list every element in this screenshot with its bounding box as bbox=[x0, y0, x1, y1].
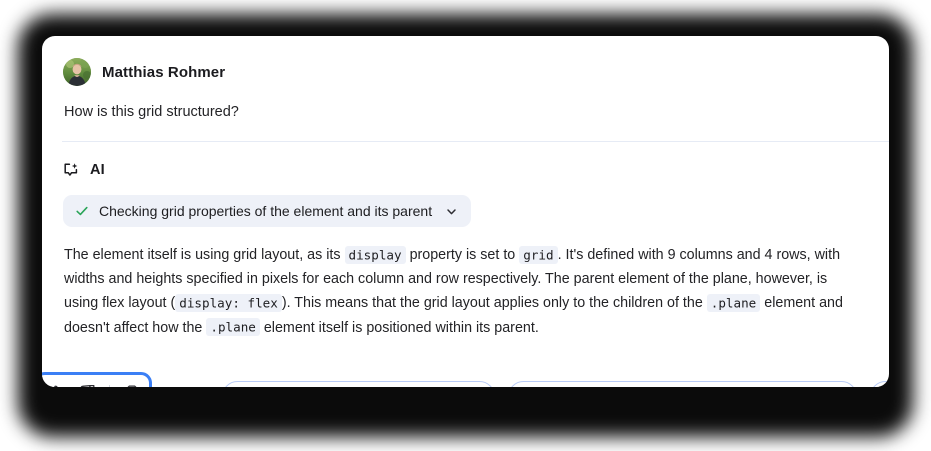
ai-header-row: AI bbox=[63, 159, 865, 181]
status-pill-checking-grid[interactable]: Checking grid properties of the element … bbox=[63, 195, 471, 227]
toolbar-divider bbox=[109, 385, 110, 387]
ai-label: AI bbox=[90, 162, 105, 178]
suggestion-chip[interactable]: How can I learn more about CSS Grid? bbox=[222, 381, 495, 388]
inline-code: .plane bbox=[206, 318, 260, 336]
ai-message-block: AI Checking grid properties of the eleme… bbox=[42, 142, 889, 340]
suggestion-chip[interactable] bbox=[870, 381, 889, 388]
report-octagon-icon bbox=[123, 384, 141, 388]
conversation-card: Matthias Rohmer How is this grid structu… bbox=[42, 36, 889, 387]
thumbs-down-button[interactable] bbox=[72, 379, 102, 387]
inline-code: grid bbox=[519, 246, 557, 264]
thumbs-up-icon bbox=[45, 383, 64, 387]
suggestion-chip[interactable]: What are the differences between grid an… bbox=[508, 381, 856, 388]
thumbs-down-icon bbox=[77, 383, 96, 387]
user-name: Matthias Rohmer bbox=[102, 64, 225, 81]
check-icon bbox=[75, 204, 89, 218]
thumbs-up-button[interactable] bbox=[42, 379, 70, 387]
inline-code: .plane bbox=[707, 294, 761, 312]
report-button[interactable] bbox=[117, 379, 147, 387]
ai-footer-bar: How can I learn more about CSS Grid? Wha… bbox=[42, 366, 889, 387]
inline-code: display bbox=[345, 246, 406, 264]
user-header-row: Matthias Rohmer bbox=[63, 57, 865, 87]
status-pill-label: Checking grid properties of the element … bbox=[99, 203, 432, 219]
user-question-text: How is this grid structured? bbox=[64, 102, 865, 122]
ai-sparkle-bubble-icon bbox=[63, 162, 80, 179]
screenshot-stage: Matthias Rohmer How is this grid structu… bbox=[0, 0, 931, 451]
user-message-block: Matthias Rohmer How is this grid structu… bbox=[42, 36, 889, 122]
ai-answer-paragraph: The element itself is using grid layout,… bbox=[64, 243, 863, 340]
avatar bbox=[63, 58, 91, 86]
inline-code: display: flex bbox=[175, 294, 282, 312]
chevron-down-icon[interactable] bbox=[442, 205, 458, 218]
feedback-toolbar[interactable] bbox=[42, 372, 152, 387]
suggestion-chip-list: How can I learn more about CSS Grid? Wha… bbox=[160, 366, 889, 387]
